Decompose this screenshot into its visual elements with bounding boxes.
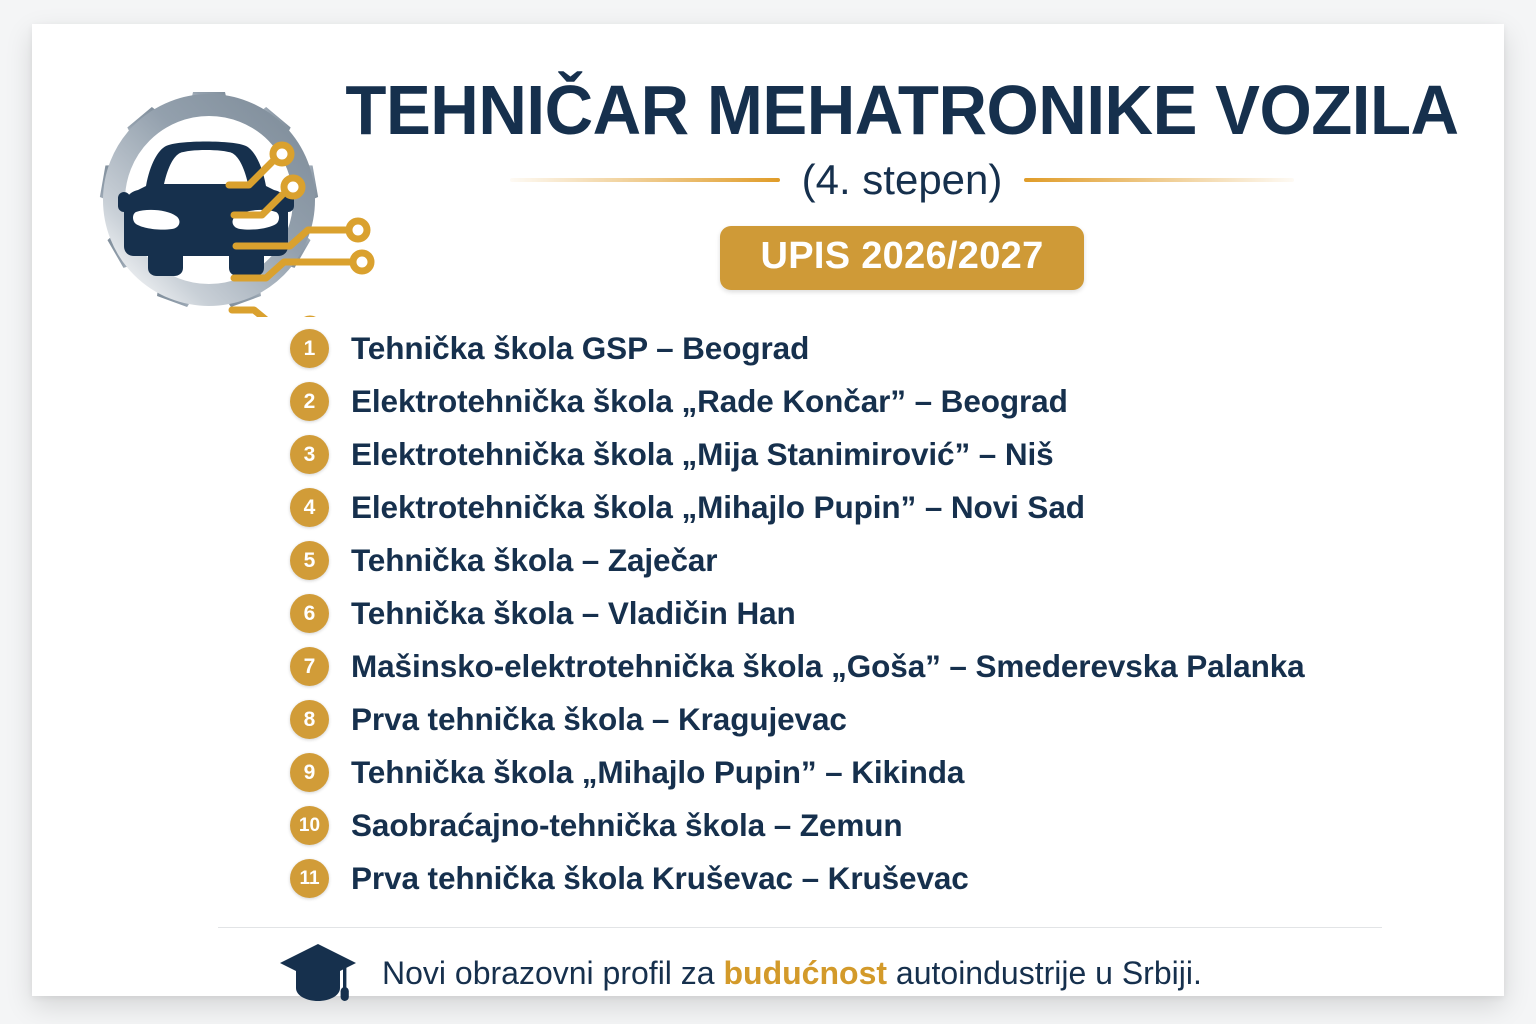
list-item-number: 11 xyxy=(290,859,329,898)
list-item-label: Prva tehnička škola – Kragujevac xyxy=(351,701,847,738)
footer-text-before: Novi obrazovni profil za xyxy=(382,955,723,991)
school-list: 1 Tehnička škola GSP – Beograd 2 Elektro… xyxy=(290,322,1470,905)
list-item: 6 Tehnička škola – Vladičin Han xyxy=(290,587,1470,640)
list-item-number: 4 xyxy=(290,488,329,527)
list-item: 2 Elektrotehnička škola „Rade Končar” – … xyxy=(290,375,1470,428)
subtitle-row: (4. stepen) xyxy=(302,156,1502,204)
footer-highlight: budućnost xyxy=(723,955,887,991)
list-item-number: 3 xyxy=(290,435,329,474)
list-item-number: 2 xyxy=(290,382,329,421)
list-item: 4 Elektrotehnička škola „Mihajlo Pupin” … xyxy=(290,481,1470,534)
enrollment-year-badge: UPIS 2026/2027 xyxy=(720,226,1083,290)
badge-row: UPIS 2026/2027 xyxy=(302,226,1502,290)
list-item-label: Tehnička škola GSP – Beograd xyxy=(351,330,809,367)
list-item: 11 Prva tehnička škola Kruševac – Krušev… xyxy=(290,852,1470,905)
info-card: TEHNIČAR MEHATRONIKE VOZILA (4. stepen) … xyxy=(32,24,1504,996)
list-item-number: 8 xyxy=(290,700,329,739)
list-item-number: 10 xyxy=(290,806,329,845)
list-item: 7 Mašinsko-elektrotehnička škola „Goša” … xyxy=(290,640,1470,693)
list-item: 9 Tehnička škola „Mihajlo Pupin” – Kikin… xyxy=(290,746,1470,799)
list-item-label: Tehnička škola – Zaječar xyxy=(351,542,717,579)
infographic-page: TEHNIČAR MEHATRONIKE VOZILA (4. stepen) … xyxy=(0,0,1536,1024)
page-title: TEHNIČAR MEHATRONIKE VOZILA xyxy=(326,70,1478,150)
list-item-label: Elektrotehnička škola „Rade Končar” – Be… xyxy=(351,383,1068,420)
list-item-number: 5 xyxy=(290,541,329,580)
list-item-label: Elektrotehnička škola „Mija Stanimirović… xyxy=(351,436,1054,473)
list-item: 8 Prva tehnička škola – Kragujevac xyxy=(290,693,1470,746)
list-item-number: 1 xyxy=(290,329,329,368)
list-item: 1 Tehnička škola GSP – Beograd xyxy=(290,322,1470,375)
subtitle-rule-right xyxy=(1024,178,1294,182)
list-item-label: Mašinsko-elektrotehnička škola „Goša” – … xyxy=(351,648,1305,685)
page-subtitle: (4. stepen) xyxy=(802,156,1003,204)
list-item-number: 7 xyxy=(290,647,329,686)
list-item: 10 Saobraćajno-tehnička škola – Zemun xyxy=(290,799,1470,852)
list-item-label: Saobraćajno-tehnička škola – Zemun xyxy=(351,807,903,844)
footer-text: Novi obrazovni profil za budućnost autoi… xyxy=(382,955,1202,992)
list-item-number: 6 xyxy=(290,594,329,633)
graduation-cap-icon xyxy=(280,942,360,1004)
list-item-label: Tehnička škola – Vladičin Han xyxy=(351,595,796,632)
footer: Novi obrazovni profil za budućnost autoi… xyxy=(280,942,1202,1004)
footer-divider xyxy=(218,927,1382,928)
list-item: 3 Elektrotehnička škola „Mija Stanimirov… xyxy=(290,428,1470,481)
list-item-number: 9 xyxy=(290,753,329,792)
list-item-label: Tehnička škola „Mihajlo Pupin” – Kikinda xyxy=(351,754,964,791)
footer-text-after: autoindustrije u Srbiji. xyxy=(887,955,1202,991)
list-item-label: Prva tehnička škola Kruševac – Kruševac xyxy=(351,860,969,897)
header: TEHNIČAR MEHATRONIKE VOZILA (4. stepen) … xyxy=(302,70,1502,290)
list-item-label: Elektrotehnička škola „Mihajlo Pupin” – … xyxy=(351,489,1085,526)
subtitle-rule-left xyxy=(510,178,780,182)
list-item: 5 Tehnička škola – Zaječar xyxy=(290,534,1470,587)
